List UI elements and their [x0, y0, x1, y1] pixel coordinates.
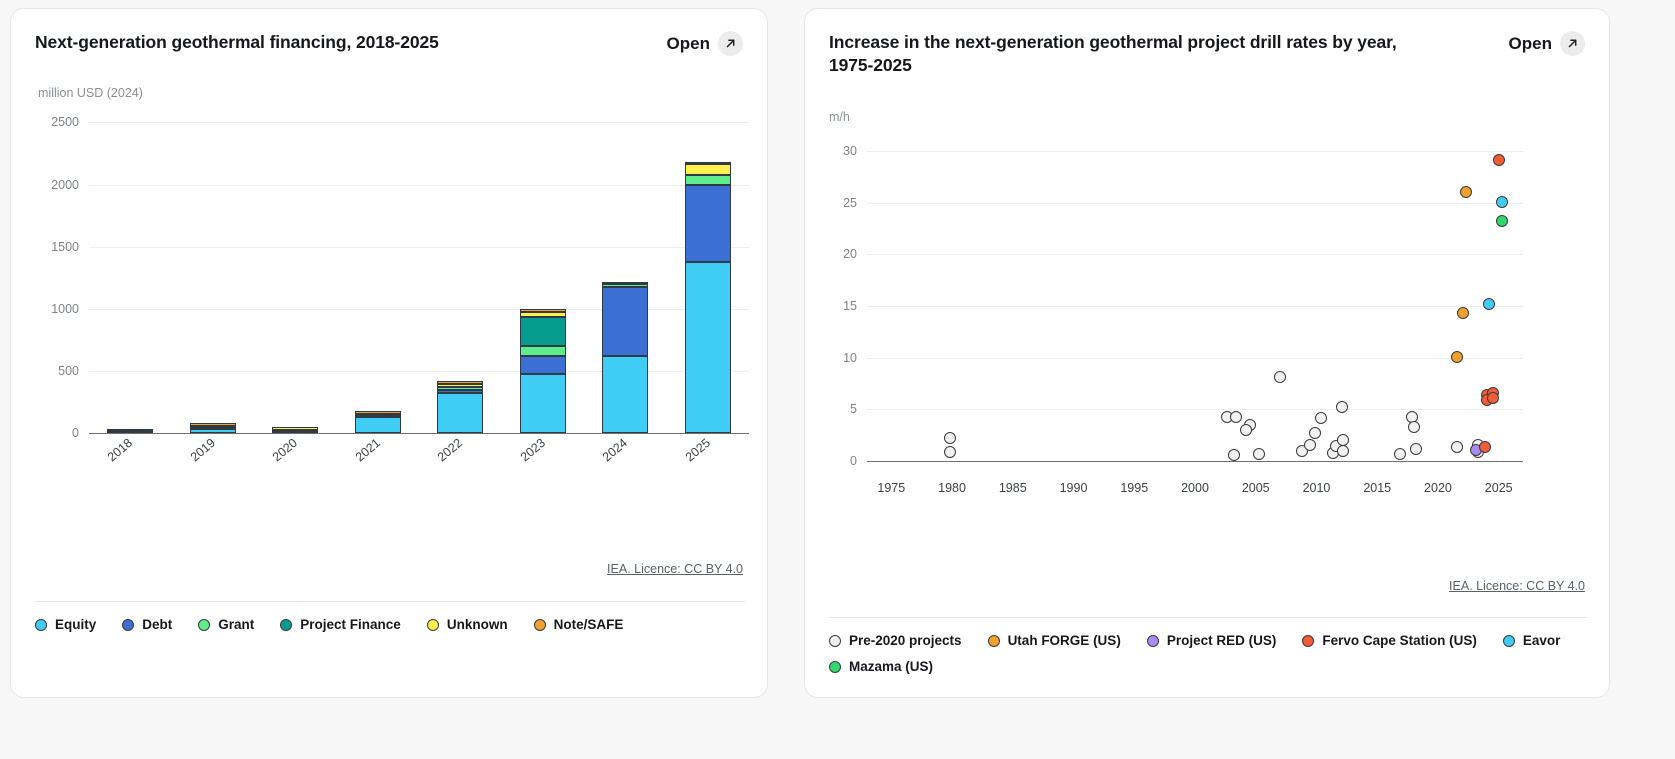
bar-segment[interactable]	[602, 284, 648, 287]
legend-swatch	[427, 619, 439, 631]
open-button-label: Open	[667, 34, 710, 54]
legend-item[interactable]: Mazama (US)	[829, 659, 933, 674]
scatter-point[interactable]	[1410, 443, 1422, 455]
legend-label: Project RED (US)	[1167, 633, 1277, 648]
legend-swatch	[122, 619, 134, 631]
legend-swatch	[988, 635, 1000, 647]
legend-swatch	[1503, 635, 1515, 647]
bar-chart-legend: EquityDebtGrantProject FinanceUnknownNot…	[35, 617, 750, 632]
legend-swatch	[35, 619, 47, 631]
scatter-point[interactable]	[1253, 448, 1265, 460]
scatter-point[interactable]	[1228, 449, 1240, 461]
gridline	[867, 151, 1523, 152]
x-axis-tick-label: 2019	[188, 436, 218, 465]
x-axis-tick-label: 2020	[270, 436, 300, 465]
legend-label: Debt	[142, 617, 172, 632]
legend-swatch	[1302, 635, 1314, 647]
scatter-point[interactable]	[1451, 441, 1463, 453]
legend-label: Equity	[55, 617, 96, 632]
legend-divider-left	[35, 601, 745, 602]
bar-column[interactable]	[685, 110, 731, 433]
scatter-point[interactable]	[944, 432, 956, 444]
bar-column[interactable]	[602, 110, 648, 433]
legend-swatch	[280, 619, 292, 631]
bar-segment[interactable]	[520, 309, 566, 312]
x-axis-tick-label: 1985	[999, 481, 1027, 495]
scatter-chart-legend: Pre-2020 projectsUtah FORGE (US)Project …	[829, 633, 1589, 674]
bar-segment[interactable]	[520, 374, 566, 433]
gridline	[867, 461, 1523, 462]
bar-segment[interactable]	[107, 429, 153, 432]
scatter-point[interactable]	[1304, 439, 1316, 451]
bar-segment[interactable]	[520, 346, 566, 356]
open-button-right[interactable]: Open	[1509, 31, 1585, 56]
y-axis-unit-label: m/h	[805, 110, 1609, 124]
x-axis-tick-label: 2025	[1485, 481, 1513, 495]
legend-divider-right	[829, 617, 1587, 618]
y-axis-tick-label: 0	[815, 454, 857, 468]
scatter-point[interactable]	[1451, 351, 1463, 363]
right-card-header: Increase in the next-generation geotherm…	[805, 9, 1609, 77]
bar-segment[interactable]	[520, 317, 566, 346]
bar-segment[interactable]	[685, 185, 731, 262]
x-axis-tick-label: 2022	[435, 436, 465, 465]
y-axis-tick-label: 25	[815, 196, 857, 210]
legend-item[interactable]: Grant	[198, 617, 254, 632]
scatter-chart-plot-area: 0510152025301975198019851990199520002005…	[805, 124, 1609, 504]
legend-item[interactable]: Pre-2020 projects	[829, 633, 962, 648]
scatter-point[interactable]	[1483, 298, 1495, 310]
x-axis-tick-label: 1995	[1120, 481, 1148, 495]
scatter-point[interactable]	[1230, 411, 1242, 423]
bar-segment[interactable]	[602, 282, 648, 285]
x-axis-tick-label: 2024	[600, 436, 630, 465]
bar-segment[interactable]	[685, 162, 731, 165]
bar-segment[interactable]	[272, 427, 318, 430]
y-axis-tick-label: 30	[815, 144, 857, 158]
y-axis-tick-label: 2500	[27, 115, 79, 129]
open-button-left[interactable]: Open	[667, 31, 743, 56]
gridline	[89, 433, 749, 434]
y-axis-tick-label: 15	[815, 299, 857, 313]
x-axis-tick-label: 1990	[1060, 481, 1088, 495]
legend-item[interactable]: Equity	[35, 617, 96, 632]
external-link-icon	[718, 31, 743, 56]
scatter-point[interactable]	[1496, 215, 1508, 227]
page-title: Increase in the next-generation geotherm…	[829, 31, 1409, 77]
scatter-point[interactable]	[1337, 445, 1349, 457]
licence-link-right[interactable]: IEA. Licence: CC BY 4.0	[1449, 579, 1585, 593]
gridline	[89, 185, 749, 186]
gridline	[867, 254, 1523, 255]
x-axis-tick-label: 2025	[683, 436, 713, 465]
y-axis-tick-label: 10	[815, 351, 857, 365]
legend-label: Project Finance	[300, 617, 401, 632]
legend-item[interactable]: Project Finance	[280, 617, 401, 632]
legend-swatch	[829, 635, 841, 647]
bar-column[interactable]	[190, 110, 236, 433]
x-axis-tick-label: 2005	[1242, 481, 1270, 495]
legend-label: Fervo Cape Station (US)	[1322, 633, 1477, 648]
legend-item[interactable]: Debt	[122, 617, 172, 632]
bar-segment[interactable]	[602, 356, 648, 433]
bar-segment[interactable]	[437, 390, 483, 394]
x-axis-tick-label: 2018	[105, 436, 135, 465]
scatter-point[interactable]	[1315, 412, 1327, 424]
y-axis-tick-label: 500	[27, 364, 79, 378]
x-axis-tick-label: 2015	[1363, 481, 1391, 495]
legend-label: Pre-2020 projects	[849, 633, 962, 648]
legend-label: Note/SAFE	[554, 617, 624, 632]
gridline	[867, 306, 1523, 307]
bar-segment[interactable]	[520, 312, 566, 317]
bar-segment[interactable]	[190, 429, 236, 433]
bar-column[interactable]	[355, 110, 401, 433]
legend-item[interactable]: Eavor	[1503, 633, 1561, 648]
x-axis-tick-label: 1980	[938, 481, 966, 495]
legend-item[interactable]: Utah FORGE (US)	[988, 633, 1121, 648]
x-axis-tick-label: 1975	[877, 481, 905, 495]
gridline	[867, 409, 1523, 410]
scatter-point[interactable]	[1460, 186, 1472, 198]
bar-column[interactable]	[107, 110, 153, 433]
bar-segment[interactable]	[190, 423, 236, 426]
y-axis-tick-label: 2000	[27, 178, 79, 192]
legend-swatch	[1147, 635, 1159, 647]
gridline	[89, 371, 749, 372]
scatter-point[interactable]	[1457, 307, 1469, 319]
scatter-point[interactable]	[1493, 154, 1505, 166]
licence-link-left[interactable]: IEA. Licence: CC BY 4.0	[607, 562, 743, 576]
bar-segment[interactable]	[685, 262, 731, 433]
scatter-point[interactable]	[1487, 392, 1499, 404]
scatter-point[interactable]	[944, 446, 956, 458]
legend-swatch	[534, 619, 546, 631]
y-axis-tick-label: 20	[815, 247, 857, 261]
scatter-point[interactable]	[1309, 427, 1321, 439]
gridline	[89, 247, 749, 248]
legend-label: Mazama (US)	[849, 659, 933, 674]
x-axis-tick-label: 2000	[1181, 481, 1209, 495]
gridline	[89, 122, 749, 123]
legend-item[interactable]: Fervo Cape Station (US)	[1302, 633, 1477, 648]
scatter-point[interactable]	[1496, 196, 1508, 208]
bar-column[interactable]	[437, 110, 483, 433]
y-axis-tick-label: 1000	[27, 302, 79, 316]
y-axis-unit-label: million USD (2024)	[11, 86, 767, 100]
legend-item[interactable]: Project RED (US)	[1147, 633, 1277, 648]
legend-swatch	[198, 619, 210, 631]
page-title: Next-generation geothermal financing, 20…	[35, 31, 439, 54]
bar-segment[interactable]	[437, 393, 483, 433]
scatter-point[interactable]	[1408, 421, 1420, 433]
legend-item[interactable]: Unknown	[427, 617, 508, 632]
bar-segment[interactable]	[355, 417, 401, 433]
open-button-label: Open	[1509, 34, 1552, 54]
dashboard-root: Next-generation geothermal financing, 20…	[0, 0, 1675, 759]
legend-label: Grant	[218, 617, 254, 632]
y-axis-tick-label: 0	[27, 426, 79, 440]
gridline	[867, 358, 1523, 359]
x-axis-tick-label: 2021	[353, 436, 383, 465]
x-axis-tick-label: 2010	[1303, 481, 1331, 495]
x-axis-tick-label: 2020	[1424, 481, 1452, 495]
scatter-point[interactable]	[1479, 441, 1491, 453]
legend-swatch	[829, 661, 841, 673]
external-link-icon	[1560, 31, 1585, 56]
x-axis-tick-label: 2023	[518, 436, 548, 465]
bar-column[interactable]	[520, 110, 566, 433]
legend-label: Unknown	[447, 617, 508, 632]
legend-item[interactable]: Note/SAFE	[534, 617, 624, 632]
legend-label: Utah FORGE (US)	[1008, 633, 1121, 648]
legend-label: Eavor	[1523, 633, 1561, 648]
bar-segment[interactable]	[685, 164, 731, 175]
bar-chart-plot-area: 0500100015002000250020182019202020212022…	[11, 100, 767, 460]
financing-chart-card: Next-generation geothermal financing, 20…	[10, 8, 768, 698]
scatter-point[interactable]	[1274, 371, 1286, 383]
bar-segment[interactable]	[437, 381, 483, 384]
y-axis-tick-label: 1500	[27, 240, 79, 254]
bar-segment[interactable]	[355, 411, 401, 414]
drill-rate-chart-card: Increase in the next-generation geotherm…	[804, 8, 1610, 698]
bar-segment[interactable]	[685, 175, 731, 185]
bar-column[interactable]	[272, 110, 318, 433]
bar-segment[interactable]	[437, 384, 483, 387]
scatter-point[interactable]	[1394, 448, 1406, 460]
bar-segment[interactable]	[602, 287, 648, 356]
scatter-point[interactable]	[1336, 401, 1348, 413]
gridline	[89, 309, 749, 310]
bar-segment[interactable]	[520, 356, 566, 374]
gridline	[867, 203, 1523, 204]
y-axis-tick-label: 5	[815, 402, 857, 416]
left-card-header: Next-generation geothermal financing, 20…	[11, 9, 767, 56]
bar-segment[interactable]	[272, 431, 318, 434]
scatter-point[interactable]	[1240, 424, 1252, 436]
